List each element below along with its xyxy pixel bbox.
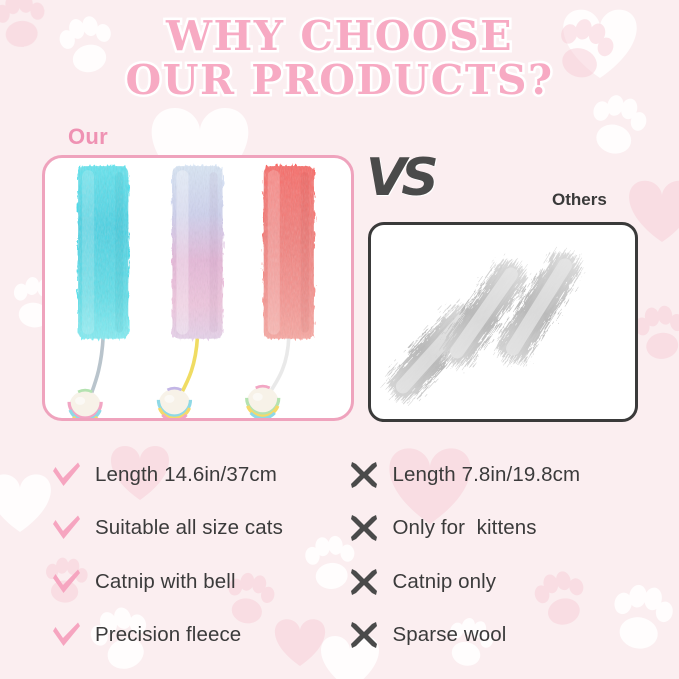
cons-row: Catnip only — [348, 555, 679, 609]
cons-row: Only for kittens — [348, 502, 679, 556]
plush-wand-cyan — [78, 166, 128, 339]
feature-comparison: Length 14.6in/37cm Suitable all size cat… — [0, 448, 679, 663]
cross-icon — [348, 619, 380, 651]
title-line-1: WHY CHOOSE — [0, 14, 679, 58]
plush-wand-coral — [264, 166, 314, 339]
pros-text: Suitable all size cats — [95, 518, 283, 539]
cross-icon — [348, 566, 380, 598]
others-product-box — [368, 222, 638, 422]
cons-row: Sparse wool — [348, 609, 679, 663]
check-icon — [50, 512, 82, 544]
cross-icon — [348, 512, 380, 544]
check-icon — [50, 566, 82, 598]
our-label: Our — [68, 124, 108, 150]
title-line-2: OUR PRODUCTS? — [0, 58, 679, 102]
cons-text: Length 7.8in/19.8cm — [393, 465, 581, 486]
vs-badge: VS — [366, 152, 434, 204]
cons-column: Length 7.8in/19.8cm Only for kittens Cat… — [340, 448, 679, 663]
our-products-illustration — [45, 158, 351, 418]
our-product-box — [42, 155, 354, 421]
cons-text: Catnip only — [393, 572, 497, 593]
pros-text: Precision fleece — [95, 625, 241, 646]
others-label: Others — [552, 190, 607, 210]
pros-row: Catnip with bell — [50, 555, 340, 609]
page-title: WHY CHOOSE OUR PRODUCTS? — [0, 14, 679, 102]
pros-row: Length 14.6in/37cm — [50, 448, 340, 502]
cons-text: Sparse wool — [393, 625, 507, 646]
cons-row: Length 7.8in/19.8cm — [348, 448, 679, 502]
check-icon — [50, 619, 82, 651]
pros-text: Length 14.6in/37cm — [95, 465, 277, 486]
pros-row: Suitable all size cats — [50, 502, 340, 556]
pros-row: Precision fleece — [50, 609, 340, 663]
cross-icon — [348, 459, 380, 491]
pros-text: Catnip with bell — [95, 572, 236, 593]
check-icon — [50, 459, 82, 491]
plush-wand-pastel — [172, 166, 222, 339]
cons-text: Only for kittens — [393, 518, 537, 539]
pros-column: Length 14.6in/37cm Suitable all size cat… — [0, 448, 340, 663]
rattan-balls — [69, 386, 279, 418]
others-products-illustration — [371, 225, 635, 419]
